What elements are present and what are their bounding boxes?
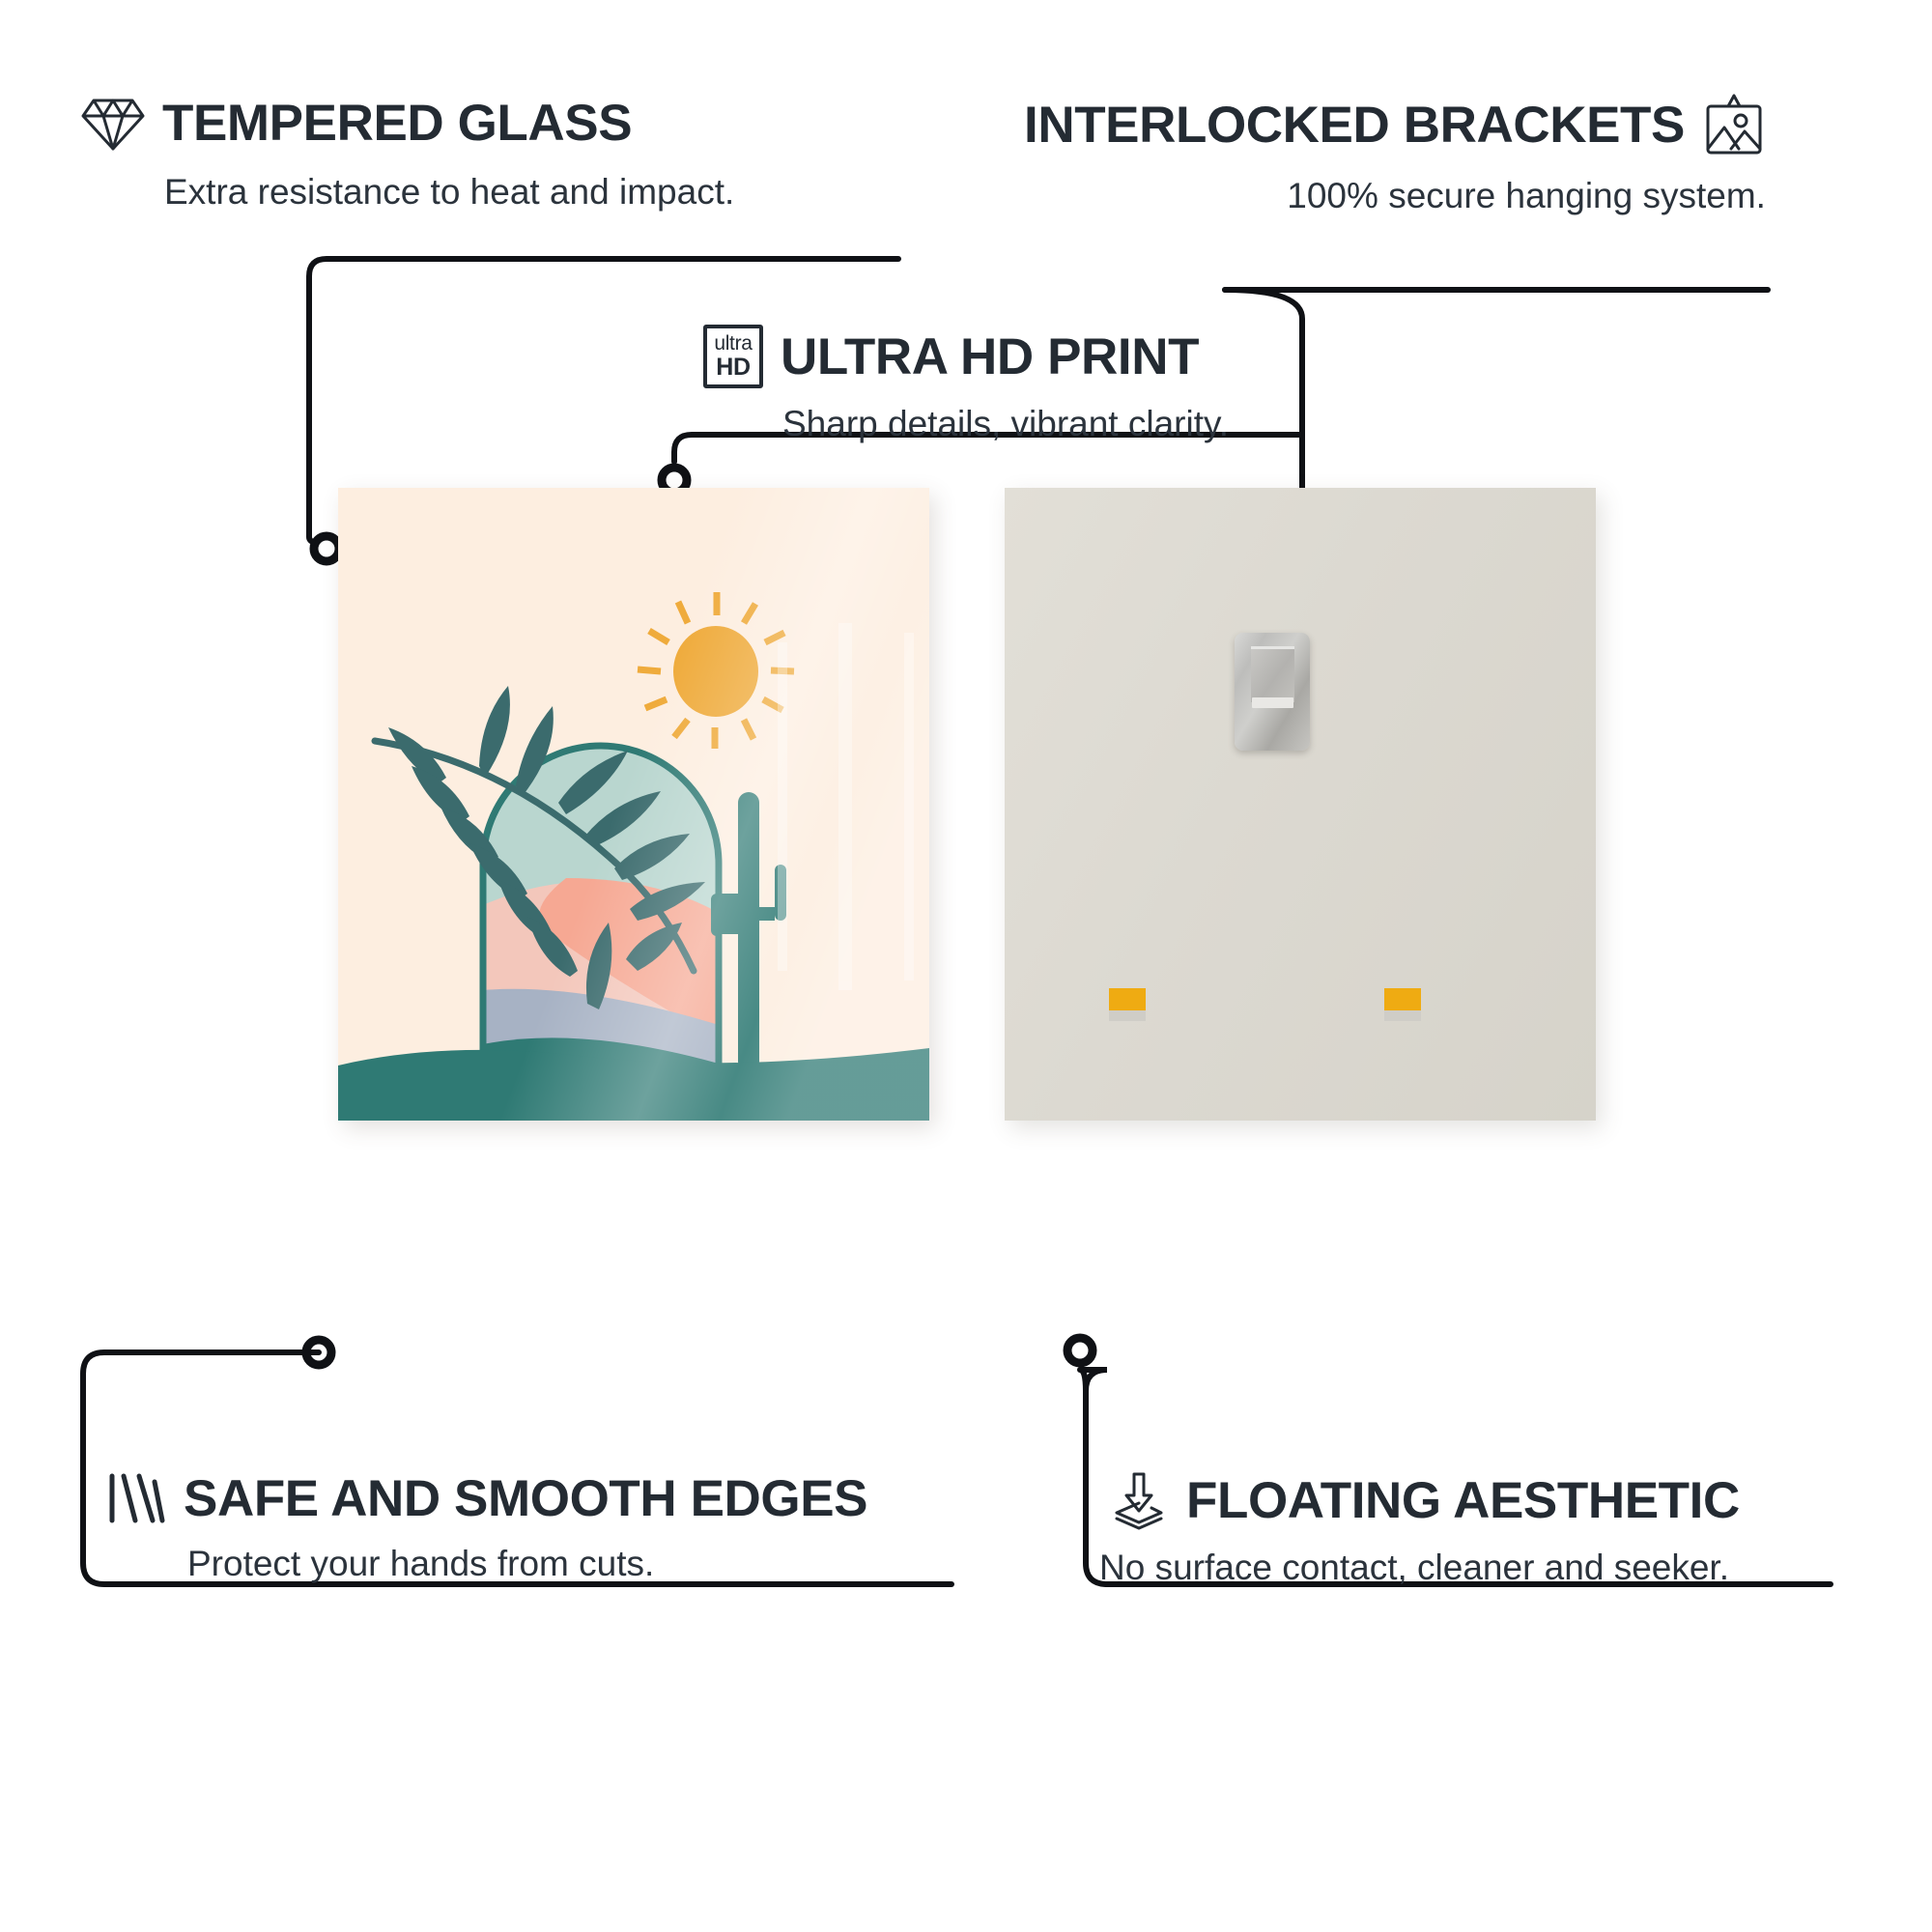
printed-glass-front-panel: [338, 488, 929, 1121]
spacer-pad-right: [1384, 988, 1421, 1021]
feature-tempered-glass: TEMPERED GLASS Extra resistance to heat …: [81, 93, 734, 213]
desert-arch-artwork: [338, 488, 929, 1121]
feature-heading-row: FLOATING AESTHETIC: [1109, 1470, 1740, 1530]
feature-interlocked-brackets: INTERLOCKED BRACKETS 100% secure hanging…: [1024, 93, 1766, 217]
feature-title: TEMPERED GLASS: [162, 98, 632, 149]
ultra-hd-badge-line2: HD: [716, 355, 751, 380]
feature-heading-row: ultra HD ULTRA HD PRINT: [703, 325, 1229, 388]
panel-surface: [1005, 488, 1596, 1121]
arrow-onto-stack-icon: [1109, 1470, 1169, 1530]
hanging-frame-icon: [1702, 93, 1766, 156]
ultra-hd-badge-icon: ultra HD: [703, 325, 763, 388]
feature-heading-row: SAFE AND SMOOTH EDGES: [106, 1470, 867, 1526]
feature-floating-aesthetic: FLOATING AESTHETIC No surface contact, c…: [1109, 1470, 1740, 1589]
infographic-canvas: TEMPERED GLASS Extra resistance to heat …: [0, 0, 1932, 1932]
feature-subtitle: Extra resistance to heat and impact.: [164, 172, 734, 213]
ultra-hd-badge-line1: ultra: [714, 333, 752, 354]
feature-title: SAFE AND SMOOTH EDGES: [184, 1473, 867, 1524]
interlocked-bracket-hardware: [1235, 633, 1310, 751]
feature-ultra-hd-print: ultra HD ULTRA HD PRINT Sharp details, v…: [703, 325, 1229, 445]
bracket-keyhole-slot: [1252, 697, 1293, 708]
feature-title: FLOATING AESTHETIC: [1186, 1475, 1740, 1526]
bracket-tab: [1251, 646, 1294, 702]
glass-back-panel: [1005, 488, 1596, 1121]
feature-title: ULTRA HD PRINT: [781, 331, 1199, 383]
feature-subtitle: Protect your hands from cuts.: [187, 1544, 867, 1585]
spacer-pad-base: [1384, 1010, 1421, 1021]
feature-heading-row: TEMPERED GLASS: [81, 93, 734, 153]
diagonal-lines-icon: [106, 1470, 166, 1526]
feature-safe-smooth-edges: SAFE AND SMOOTH EDGES Protect your hands…: [106, 1470, 867, 1585]
feature-subtitle: Sharp details, vibrant clarity.: [782, 404, 1229, 445]
diamond-icon: [81, 93, 145, 153]
spacer-pad-left: [1109, 988, 1146, 1021]
spacer-pad-top: [1109, 988, 1146, 1010]
callout-connectors: [0, 0, 1932, 1932]
feature-subtitle: No surface contact, cleaner and seeker.: [1099, 1548, 1740, 1589]
spacer-pad-top: [1384, 988, 1421, 1010]
feature-title: INTERLOCKED BRACKETS: [1024, 99, 1685, 151]
feature-subtitle: 100% secure hanging system.: [1014, 176, 1766, 217]
spacer-pad-base: [1109, 1010, 1146, 1021]
feature-heading-row: INTERLOCKED BRACKETS: [1024, 93, 1766, 156]
